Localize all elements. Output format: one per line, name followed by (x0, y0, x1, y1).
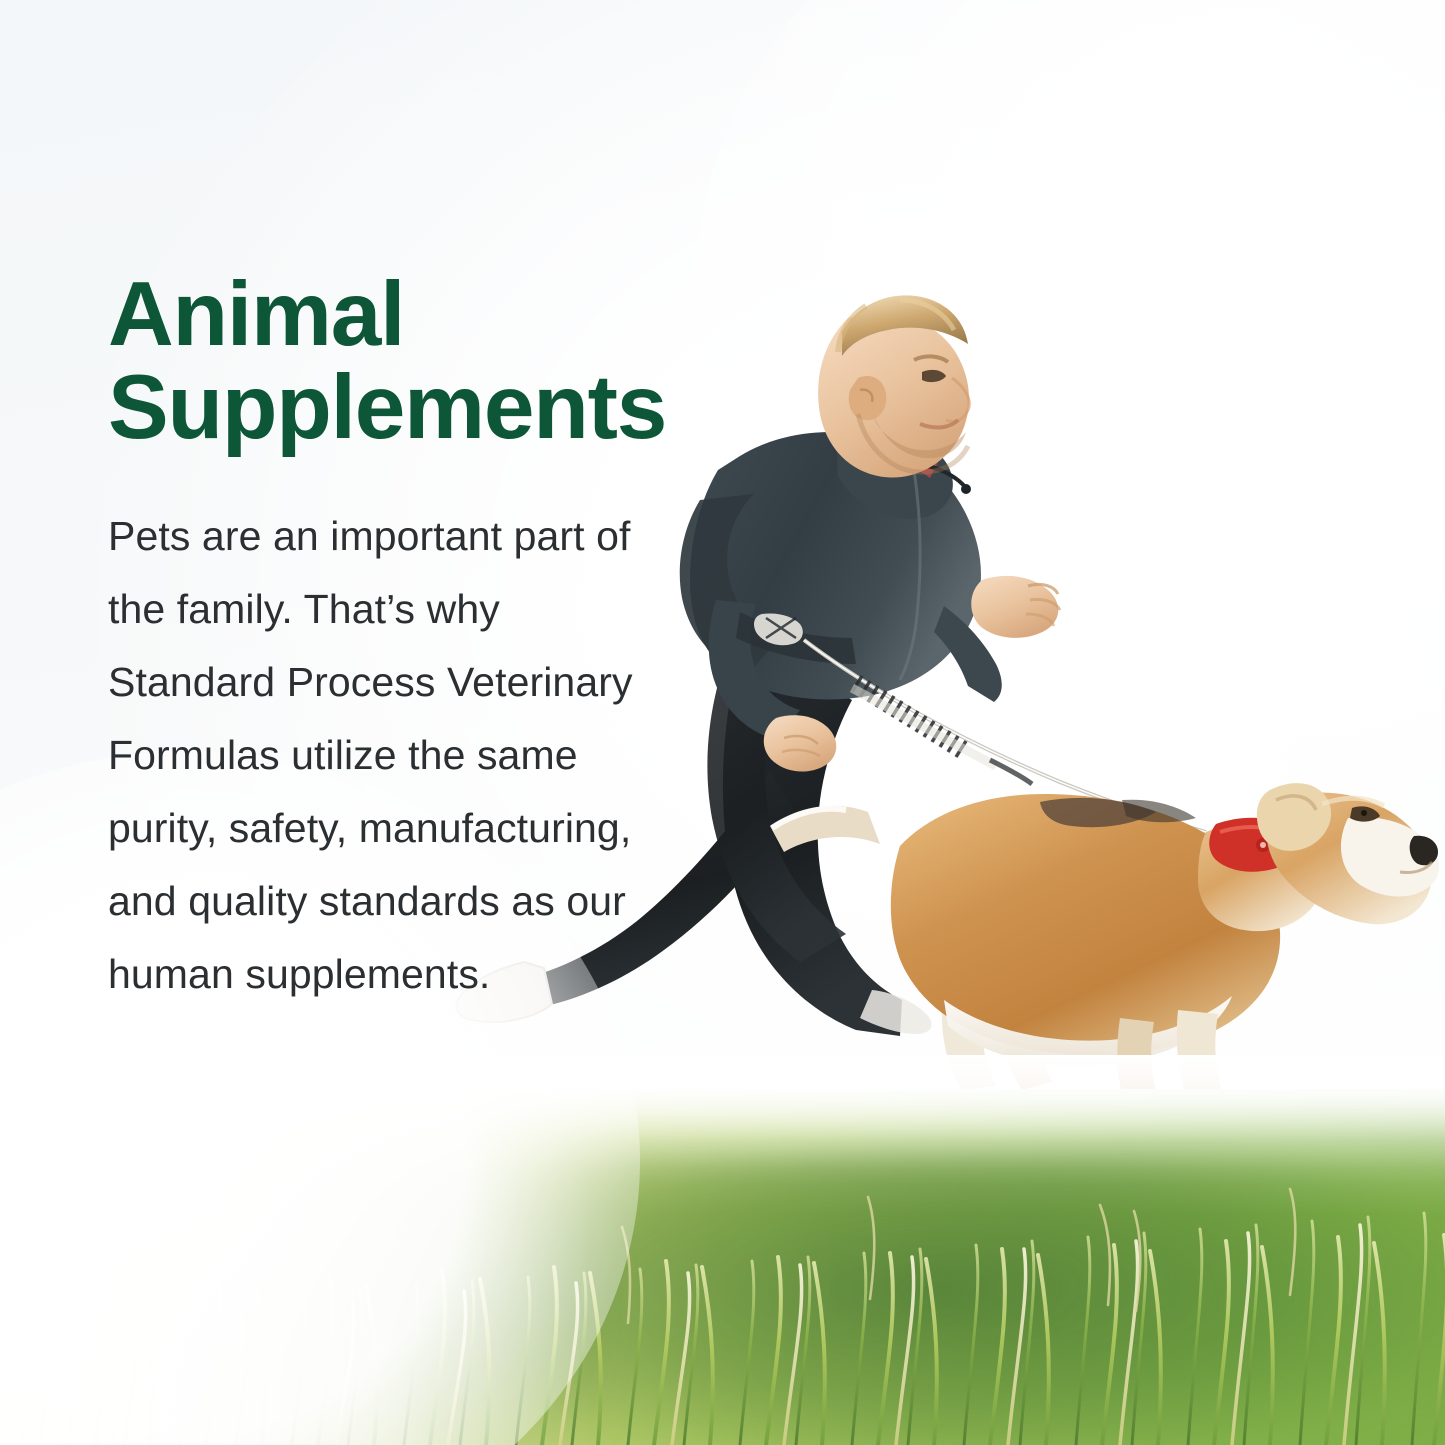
text-block: Animal Supplements Pets are an important… (108, 268, 688, 1011)
body-paragraph: Pets are an important part of the family… (108, 454, 653, 1011)
page-title: Animal Supplements (108, 268, 688, 454)
animal-supplements-promo-image: Animal Supplements Pets are an important… (0, 0, 1445, 1445)
grass-field (0, 1055, 1445, 1445)
